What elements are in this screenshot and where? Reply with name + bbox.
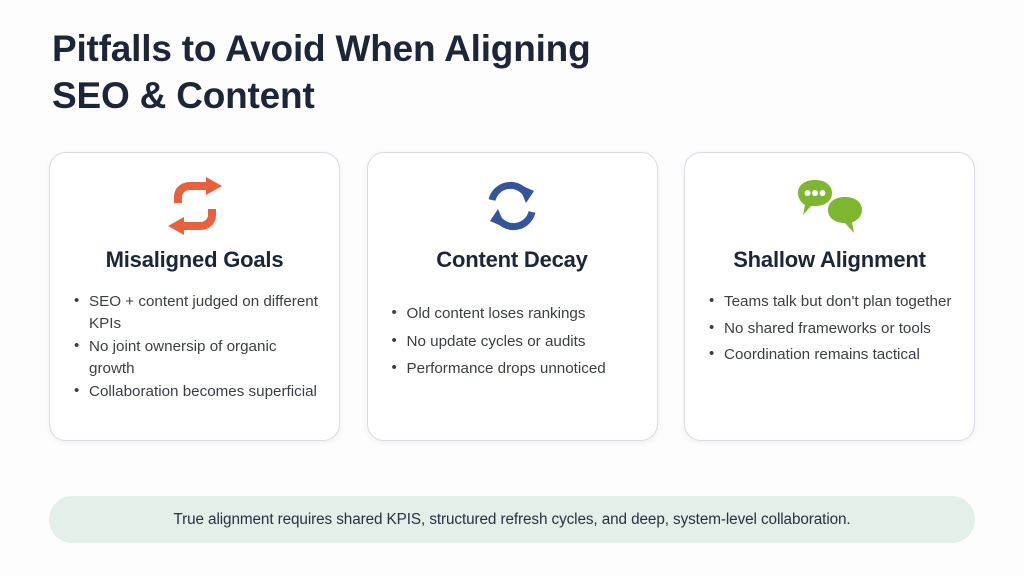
card-shallow-alignment[interactable]: Shallow Alignment Teams talk but don't p…: [684, 152, 975, 441]
card-title: Misaligned Goals: [106, 247, 284, 273]
card-bullet-list: Old content loses rankings No update cyc…: [384, 291, 641, 386]
list-item: Performance drops unnoticed: [390, 358, 641, 380]
circular-refresh-icon: [481, 175, 543, 237]
list-item: Old content loses rankings: [390, 303, 641, 325]
summary-banner: True alignment requires shared KPIS, str…: [49, 496, 975, 543]
speech-bubbles-icon: [794, 175, 866, 237]
list-item: SEO + content judged on different KPIs: [72, 291, 323, 334]
list-item: No update cycles or audits: [390, 331, 641, 353]
list-item: Collaboration becomes superficial: [72, 381, 323, 403]
page-title-line-2: SEO & Content: [52, 73, 772, 120]
card-bullet-list: SEO + content judged on different KPIs N…: [66, 291, 323, 405]
card-misaligned-goals[interactable]: Misaligned Goals SEO + content judged on…: [49, 152, 340, 441]
card-title: Shallow Alignment: [733, 247, 926, 273]
pitfall-card-row: Misaligned Goals SEO + content judged on…: [49, 152, 975, 441]
card-bullet-list: Teams talk but don't plan together No sh…: [701, 291, 958, 371]
list-item: No joint ownersip of organic growth: [72, 336, 323, 379]
summary-banner-text: True alignment requires shared KPIS, str…: [173, 511, 850, 529]
page-title: Pitfalls to Avoid When Aligning SEO & Co…: [52, 26, 772, 119]
list-item: Teams talk but don't plan together: [707, 291, 958, 313]
page-title-line-1: Pitfalls to Avoid When Aligning: [52, 26, 772, 73]
list-item: No shared frameworks or tools: [707, 318, 958, 340]
card-title: Content Decay: [436, 247, 587, 273]
repeat-arrows-icon: [162, 175, 228, 237]
slide-canvas: Pitfalls to Avoid When Aligning SEO & Co…: [0, 0, 1024, 576]
list-item: Coordination remains tactical: [707, 344, 958, 366]
card-content-decay[interactable]: Content Decay Old content loses rankings…: [367, 152, 658, 441]
